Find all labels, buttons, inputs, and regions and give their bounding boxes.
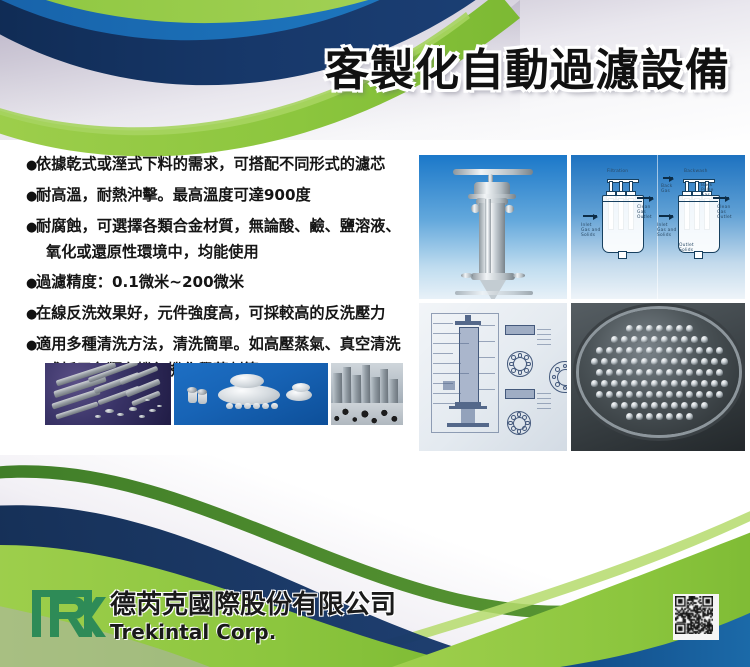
filter-nozzle xyxy=(601,358,608,365)
filter-nozzle xyxy=(651,358,658,365)
product-photo-strip xyxy=(45,363,403,425)
filter-nozzle xyxy=(616,369,623,376)
filter-nozzle xyxy=(646,325,653,332)
filter-nozzle xyxy=(626,325,633,332)
filter-nozzle xyxy=(641,336,648,343)
bullet-dot-icon: ● xyxy=(26,302,35,328)
bullet-dot-icon: ● xyxy=(26,271,35,297)
filter-nozzle xyxy=(681,380,688,387)
filter-nozzle xyxy=(626,391,633,398)
diagram-label: Outlet xyxy=(717,215,732,220)
vessel-cone xyxy=(480,280,506,299)
feature-item: ● 在線反洗效果好，元件強度高，可採較高的反洗壓力 xyxy=(26,301,416,328)
filter-nozzle xyxy=(606,369,613,376)
engineering-drawing xyxy=(419,303,567,451)
filter-nozzle xyxy=(696,391,703,398)
image-grid: Filtration Backwash InletGas andSolidsIn… xyxy=(419,155,745,451)
filter-nozzle xyxy=(626,347,633,354)
filter-nozzle xyxy=(591,380,598,387)
feature-item: ● 耐高溫，耐熱沖擊。最高溫度可達900度 xyxy=(26,183,416,210)
filter-nozzle xyxy=(676,413,683,420)
feature-text: 耐高溫，耐熱沖擊。最高溫度可達900度 xyxy=(36,183,416,209)
feature-text: 耐腐蝕，可選擇各類合金材質，無論酸、鹼、鹽溶液、 氧化或還原性環境中，均能使用 xyxy=(36,214,416,265)
diagram-label: Solids xyxy=(679,248,693,253)
filter-nozzle xyxy=(701,402,708,409)
bullet-dot-icon: ● xyxy=(26,184,35,210)
filter-nozzle xyxy=(721,380,728,387)
filter-nozzle xyxy=(596,369,603,376)
filter-nozzle xyxy=(691,380,698,387)
diagram-label: Gas xyxy=(701,193,710,198)
filter-nozzle xyxy=(671,336,678,343)
feature-item: ● 依據乾式或溼式下料的需求，可搭配不同形式的濾芯 xyxy=(26,152,416,179)
filter-nozzle xyxy=(686,325,693,332)
filter-nozzle xyxy=(646,413,653,420)
filtration-backwash-diagram: Filtration Backwash InletGas andSolidsIn… xyxy=(571,155,745,299)
filter-nozzle xyxy=(651,402,658,409)
filter-nozzle xyxy=(596,391,603,398)
filter-nozzle xyxy=(666,369,673,376)
filter-nozzle xyxy=(611,380,618,387)
filter-nozzle xyxy=(651,336,658,343)
tube-sheet-photo xyxy=(571,303,745,451)
filter-nozzle xyxy=(626,369,633,376)
filter-nozzle xyxy=(671,402,678,409)
filter-nozzle xyxy=(646,391,653,398)
filter-nozzle xyxy=(676,391,683,398)
feature-text: 過濾精度：0.1微米~200微米 xyxy=(36,270,416,296)
trk-logo xyxy=(30,588,110,640)
filter-nozzle xyxy=(671,380,678,387)
sintered-filter-elements-photo xyxy=(45,363,171,425)
filter-nozzle xyxy=(631,380,638,387)
filter-nozzle xyxy=(616,391,623,398)
filter-nozzle xyxy=(676,369,683,376)
feature-item: ● 耐腐蝕，可選擇各類合金材質，無論酸、鹼、鹽溶液、 氧化或還原性環境中，均能使… xyxy=(26,214,416,265)
filter-nozzle xyxy=(631,336,638,343)
filter-nozzle xyxy=(636,391,643,398)
feature-list: ● 依據乾式或溼式下料的需求，可搭配不同形式的濾芯 ● 耐高溫，耐熱沖擊。最高溫… xyxy=(26,152,416,388)
filter-nozzle xyxy=(681,402,688,409)
diagram-label: Outlet xyxy=(637,215,652,220)
filter-nozzle xyxy=(661,380,668,387)
filter-nozzle xyxy=(686,369,693,376)
filter-nozzle xyxy=(641,402,648,409)
bullet-dot-icon: ● xyxy=(26,333,35,359)
filter-nozzle xyxy=(666,391,673,398)
filter-nozzle xyxy=(676,347,683,354)
qr-code[interactable] xyxy=(673,594,719,640)
filter-nozzle xyxy=(681,358,688,365)
filter-nozzle xyxy=(646,347,653,354)
filter-nozzle xyxy=(601,380,608,387)
filter-nozzle xyxy=(621,358,628,365)
bullet-dot-icon: ● xyxy=(26,153,35,179)
filter-nozzle xyxy=(666,413,673,420)
filter-nozzle xyxy=(696,347,703,354)
filter-nozzle xyxy=(706,369,713,376)
filter-nozzle xyxy=(701,380,708,387)
filter-nozzle xyxy=(666,347,673,354)
filter-nozzle xyxy=(656,391,663,398)
filter-nozzle xyxy=(636,325,643,332)
filter-nozzle xyxy=(691,358,698,365)
bullet-dot-icon: ● xyxy=(26,215,35,241)
vessel-top-beam xyxy=(453,169,533,175)
brand-block: 德芮克國際股份有限公司 Trekintal Corp. xyxy=(110,590,396,644)
filter-nozzle xyxy=(706,347,713,354)
vessel-shell xyxy=(479,203,505,277)
filter-nozzle xyxy=(611,358,618,365)
filter-nozzle xyxy=(611,402,618,409)
feature-text: 依據乾式或溼式下料的需求，可搭配不同形式的濾芯 xyxy=(36,152,416,178)
diagram-title-filtration: Filtration xyxy=(607,169,628,174)
filter-nozzle xyxy=(661,402,668,409)
filter-nozzle xyxy=(656,413,663,420)
filter-nozzle xyxy=(611,336,618,343)
filter-nozzle xyxy=(641,358,648,365)
filter-nozzle xyxy=(656,325,663,332)
filter-nozzle xyxy=(636,347,643,354)
filter-nozzle xyxy=(591,358,598,365)
filter-nozzle xyxy=(626,413,633,420)
filter-nozzle xyxy=(671,358,678,365)
particle-bed xyxy=(331,403,403,425)
filter-nozzle xyxy=(606,347,613,354)
company-name-cn: 德芮克國際股份有限公司 xyxy=(110,590,396,620)
filter-nozzle xyxy=(716,347,723,354)
filter-nozzle xyxy=(681,336,688,343)
filter-nozzle xyxy=(616,347,623,354)
filter-nozzle xyxy=(641,380,648,387)
filter-nozzle xyxy=(621,402,628,409)
filter-nozzle xyxy=(701,358,708,365)
filter-nozzle xyxy=(686,391,693,398)
filter-nozzle xyxy=(621,380,628,387)
filter-nozzle xyxy=(636,413,643,420)
filter-nozzle xyxy=(721,358,728,365)
filter-nozzle xyxy=(646,369,653,376)
filter-nozzle xyxy=(656,369,663,376)
brochure-page: 客製化自動過濾設備 ● 依據乾式或溼式下料的需求，可搭配不同形式的濾芯 ● 耐高… xyxy=(0,0,750,667)
filter-nozzle xyxy=(606,391,613,398)
filter-nozzle xyxy=(621,336,628,343)
filter-nozzle xyxy=(651,380,658,387)
filter-nozzle xyxy=(686,413,693,420)
filter-nozzle xyxy=(691,336,698,343)
filter-vessel-photo xyxy=(419,155,567,299)
filtration-cutaway-illustration xyxy=(331,363,403,425)
filter-nozzle xyxy=(631,402,638,409)
filter-nozzle xyxy=(661,336,668,343)
filter-nozzle xyxy=(716,369,723,376)
company-name-en: Trekintal Corp. xyxy=(110,620,396,644)
filter-nozzle xyxy=(716,391,723,398)
filter-nozzle xyxy=(636,369,643,376)
filter-discs-photo xyxy=(174,363,328,425)
filter-nozzle xyxy=(686,347,693,354)
filter-nozzle xyxy=(631,358,638,365)
filter-nozzle xyxy=(696,369,703,376)
filter-nozzle xyxy=(656,347,663,354)
filter-nozzle xyxy=(666,325,673,332)
filter-nozzle xyxy=(711,358,718,365)
feature-item: ● 過濾精度：0.1微米~200微米 xyxy=(26,270,416,297)
feature-text: 在線反洗效果好，元件強度高，可採較高的反洗壓力 xyxy=(36,301,416,327)
diagram-title-backwash: Backwash xyxy=(684,169,708,174)
page-title: 客製化自動過濾設備 xyxy=(300,36,730,96)
diagram-label: Solids xyxy=(657,233,671,238)
diagram-label: Solids xyxy=(581,233,595,238)
filter-nozzle xyxy=(596,347,603,354)
large-filter-disc xyxy=(218,385,280,405)
filter-nozzle xyxy=(691,402,698,409)
filter-nozzle xyxy=(711,380,718,387)
filter-nozzle xyxy=(676,325,683,332)
diagram-label: Gas xyxy=(661,189,670,194)
filter-nozzle xyxy=(701,336,708,343)
filter-nozzle xyxy=(661,358,668,365)
filter-nozzle xyxy=(706,391,713,398)
